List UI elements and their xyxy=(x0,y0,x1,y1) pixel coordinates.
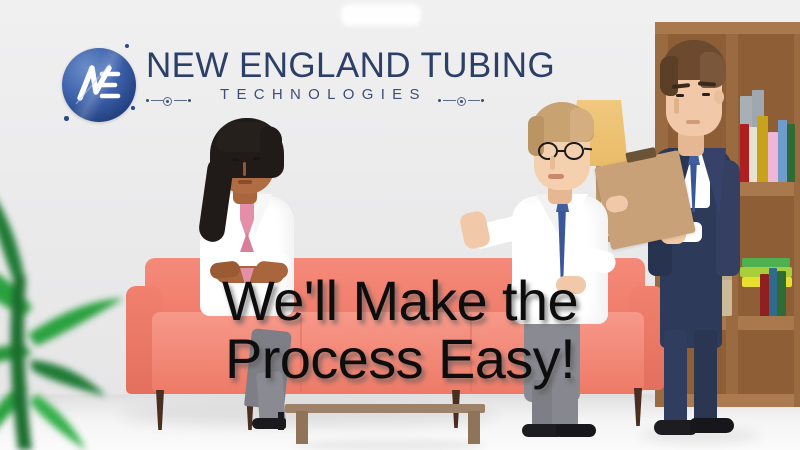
ne-monogram-icon xyxy=(62,48,136,122)
brand-tagline: TECHNOLOGIES xyxy=(220,86,427,103)
brand-name: NEW ENGLAND TUBING xyxy=(146,46,555,86)
foreground-plant xyxy=(0,148,124,450)
right-ornament-icon xyxy=(438,96,502,106)
brand-logo: NEW ENGLAND TUBING TECHNOLOGIES xyxy=(62,44,502,126)
top-highlight-chip xyxy=(341,4,421,26)
video-frame: NEW ENGLAND TUBING TECHNOLOGIES We'll Ma… xyxy=(0,0,800,450)
brand-tagline-row: TECHNOLOGIES xyxy=(146,86,502,110)
left-ornament-icon xyxy=(146,96,210,106)
